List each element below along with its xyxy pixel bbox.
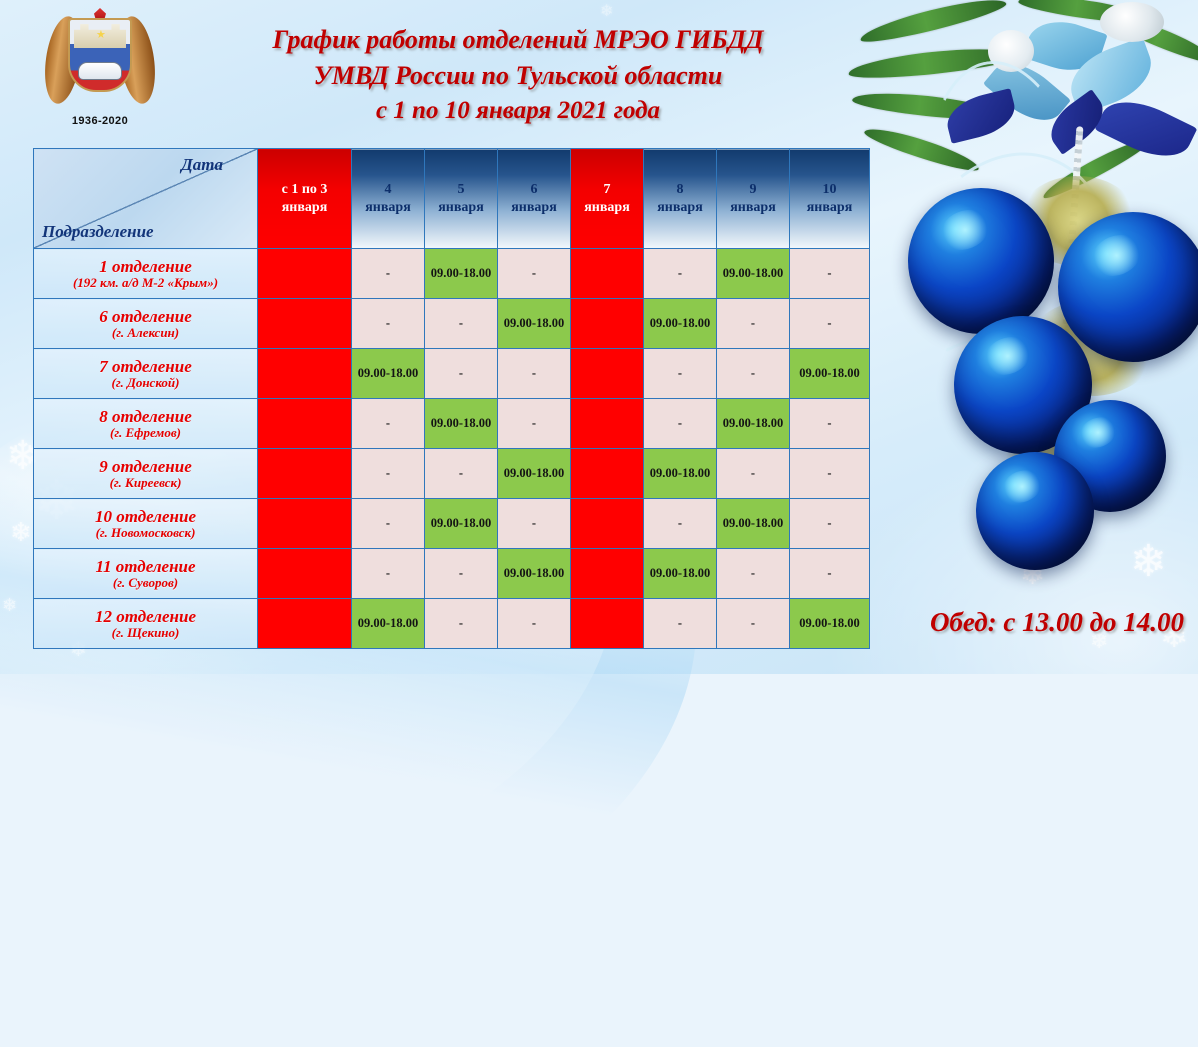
department-axis-label: Подразделение	[42, 222, 154, 242]
schedule-cell: -	[790, 249, 870, 299]
table-row: 11 отделение(г. Суворов)--09.00-18.0009.…	[34, 549, 870, 599]
page-title: График работы отделений МРЭО ГИБДД УМВД …	[168, 22, 868, 128]
day-number: 5	[425, 181, 497, 199]
schedule-cell: -	[717, 299, 790, 349]
schedule-cell: -	[790, 449, 870, 499]
department-name: 8 отделение	[34, 407, 257, 426]
day-month: января	[644, 199, 716, 217]
schedule-cell: -	[352, 399, 425, 449]
department-cell: 7 отделение(г. Донской)	[34, 349, 258, 399]
lunch-note: Обед: с 13.00 до 14.00	[930, 607, 1184, 638]
department-name: 12 отделение	[34, 607, 257, 626]
schedule-cell: 09.00-18.00	[425, 499, 498, 549]
table-row: 9 отделение(г. Киреевск)--09.00-18.0009.…	[34, 449, 870, 499]
corner-header-cell: Дата Подразделение	[34, 149, 258, 249]
schedule-cell: -	[498, 349, 571, 399]
schedule-cell: 09.00-18.00	[717, 249, 790, 299]
schedule-cell: -	[352, 299, 425, 349]
schedule-cell	[258, 349, 352, 399]
department-name: 1 отделение	[34, 257, 257, 276]
schedule-cell: -	[425, 299, 498, 349]
schedule-cell: 09.00-18.00	[425, 249, 498, 299]
day-header-8: 10января	[790, 149, 870, 249]
day-header-3: 5января	[425, 149, 498, 249]
day-number: 9	[717, 181, 789, 199]
department-city: (г. Донской)	[34, 376, 257, 391]
day-header-1: с 1 по 3января	[258, 149, 352, 249]
table-row: 7 отделение(г. Донской)09.00-18.00----09…	[34, 349, 870, 399]
schedule-cell: -	[498, 249, 571, 299]
table-body: 1 отделение(192 км. а/д М-2 «Крым»)-09.0…	[34, 249, 870, 649]
day-month: января	[717, 199, 789, 217]
emblem-years: 1936-2020	[36, 115, 164, 127]
schedule-cell: -	[717, 349, 790, 399]
schedule-cell: -	[352, 449, 425, 499]
day-number: 8	[644, 181, 716, 199]
christmas-decoration	[868, 0, 1198, 674]
schedule-cell: -	[790, 499, 870, 549]
schedule-cell: -	[644, 499, 717, 549]
department-cell: 12 отделение(г. Щекино)	[34, 599, 258, 649]
department-name: 11 отделение	[34, 557, 257, 576]
day-month: января	[790, 199, 869, 217]
schedule-cell: -	[425, 449, 498, 499]
day-header-5: 7января	[571, 149, 644, 249]
star-icon: ★	[96, 28, 106, 41]
schedule-cell: 09.00-18.00	[717, 499, 790, 549]
department-name: 9 отделение	[34, 457, 257, 476]
department-city: (г. Киреевск)	[34, 476, 257, 491]
schedule-cell: -	[644, 599, 717, 649]
schedule-cell: -	[644, 349, 717, 399]
schedule-cell	[571, 349, 644, 399]
department-cell: 10 отделение(г. Новомосковск)	[34, 499, 258, 549]
schedule-cell	[258, 449, 352, 499]
schedule-cell: -	[352, 549, 425, 599]
day-month: января	[498, 199, 570, 217]
schedule-cell: -	[717, 599, 790, 649]
department-city: (г. Щекино)	[34, 626, 257, 641]
emblem-graphic: ★	[44, 8, 156, 112]
department-city: (г. Ефремов)	[34, 426, 257, 441]
schedule-cell: -	[425, 549, 498, 599]
day-number: 4	[352, 181, 424, 199]
day-month: января	[352, 199, 424, 217]
schedule-cell: -	[790, 299, 870, 349]
day-month: января	[258, 199, 351, 217]
schedule-cell: 09.00-18.00	[498, 549, 571, 599]
schedule-cell: 09.00-18.00	[790, 599, 870, 649]
schedule-table: Дата Подразделение с 1 по 3января4января…	[33, 148, 870, 649]
fir-branch	[858, 0, 1008, 48]
title-line-2: УМВД России по Тульской области	[168, 58, 868, 94]
snowflake-icon: ❄	[600, 4, 613, 20]
department-name: 10 отделение	[34, 507, 257, 526]
date-axis-label: Дата	[181, 155, 223, 175]
day-header-4: 6января	[498, 149, 571, 249]
snowflake-icon: ❄	[10, 520, 32, 546]
department-name: 7 отделение	[34, 357, 257, 376]
day-number: с 1 по 3	[258, 181, 351, 199]
department-cell: 11 отделение(г. Суворов)	[34, 549, 258, 599]
day-month: января	[571, 199, 643, 217]
schedule-cell: -	[717, 449, 790, 499]
gibdd-emblem: ★ 1936-2020	[36, 8, 164, 127]
table-row: 10 отделение(г. Новомосковск)-09.00-18.0…	[34, 499, 870, 549]
blue-christmas-bauble	[1058, 212, 1198, 362]
title-line-1: График работы отделений МРЭО ГИБДД	[168, 22, 868, 58]
schedule-cell: -	[644, 249, 717, 299]
table-row: 12 отделение(г. Щекино)09.00-18.00----09…	[34, 599, 870, 649]
table-row: 6 отделение(г. Алексин)--09.00-18.0009.0…	[34, 299, 870, 349]
schedule-cell: -	[425, 599, 498, 649]
department-city: (г. Алексин)	[34, 326, 257, 341]
day-month: января	[425, 199, 497, 217]
schedule-cell: 09.00-18.00	[790, 349, 870, 399]
schedule-cell	[258, 399, 352, 449]
schedule-cell: -	[498, 599, 571, 649]
schedule-cell	[571, 449, 644, 499]
department-city: (г. Новомосковск)	[34, 526, 257, 541]
schedule-cell: -	[498, 499, 571, 549]
schedule-cell	[258, 299, 352, 349]
day-header-2: 4января	[352, 149, 425, 249]
day-number: 7	[571, 181, 643, 199]
schedule-cell: 09.00-18.00	[644, 449, 717, 499]
schedule-cell: 09.00-18.00	[425, 399, 498, 449]
schedule-cell	[571, 599, 644, 649]
department-cell: 8 отделение(г. Ефремов)	[34, 399, 258, 449]
schedule-cell: 09.00-18.00	[498, 449, 571, 499]
department-cell: 6 отделение(г. Алексин)	[34, 299, 258, 349]
schedule-cell	[571, 249, 644, 299]
schedule-cell	[571, 299, 644, 349]
table-row: 1 отделение(192 км. а/д М-2 «Крым»)-09.0…	[34, 249, 870, 299]
department-city: (192 км. а/д М-2 «Крым»)	[34, 276, 257, 291]
schedule-cell	[258, 599, 352, 649]
schedule-cell: -	[352, 249, 425, 299]
department-name: 6 отделение	[34, 307, 257, 326]
schedule-cell	[258, 499, 352, 549]
day-header-6: 8января	[644, 149, 717, 249]
department-city: (г. Суворов)	[34, 576, 257, 591]
blue-christmas-bauble	[976, 452, 1094, 570]
schedule-cell	[571, 399, 644, 449]
day-number: 6	[498, 181, 570, 199]
table-row: 8 отделение(г. Ефремов)-09.00-18.00--09.…	[34, 399, 870, 449]
schedule-cell: -	[425, 349, 498, 399]
department-cell: 9 отделение(г. Киреевск)	[34, 449, 258, 499]
schedule-cell	[571, 499, 644, 549]
schedule-cell: -	[790, 399, 870, 449]
schedule-cell: 09.00-18.00	[498, 299, 571, 349]
schedule-cell: 09.00-18.00	[352, 349, 425, 399]
title-line-3: с 1 по 10 января 2021 года	[168, 94, 868, 129]
car-icon	[78, 62, 122, 80]
blue-christmas-bauble	[908, 188, 1054, 334]
schedule-cell	[571, 549, 644, 599]
white-blossom	[1100, 2, 1164, 42]
schedule-cell: 09.00-18.00	[352, 599, 425, 649]
schedule-cell	[258, 249, 352, 299]
department-cell: 1 отделение(192 км. а/д М-2 «Крым»)	[34, 249, 258, 299]
schedule-cell: -	[644, 399, 717, 449]
schedule-cell: -	[352, 499, 425, 549]
table-header-row: Дата Подразделение с 1 по 3января4января…	[34, 149, 870, 249]
day-number: 10	[790, 181, 869, 199]
schedule-cell: -	[498, 399, 571, 449]
schedule-cell: 09.00-18.00	[717, 399, 790, 449]
schedule-cell: 09.00-18.00	[644, 549, 717, 599]
schedule-cell	[258, 549, 352, 599]
schedule-cell: -	[790, 549, 870, 599]
snowflake-icon: ❄	[2, 596, 17, 614]
schedule-cell: 09.00-18.00	[644, 299, 717, 349]
schedule-cell: -	[717, 549, 790, 599]
day-header-7: 9января	[717, 149, 790, 249]
